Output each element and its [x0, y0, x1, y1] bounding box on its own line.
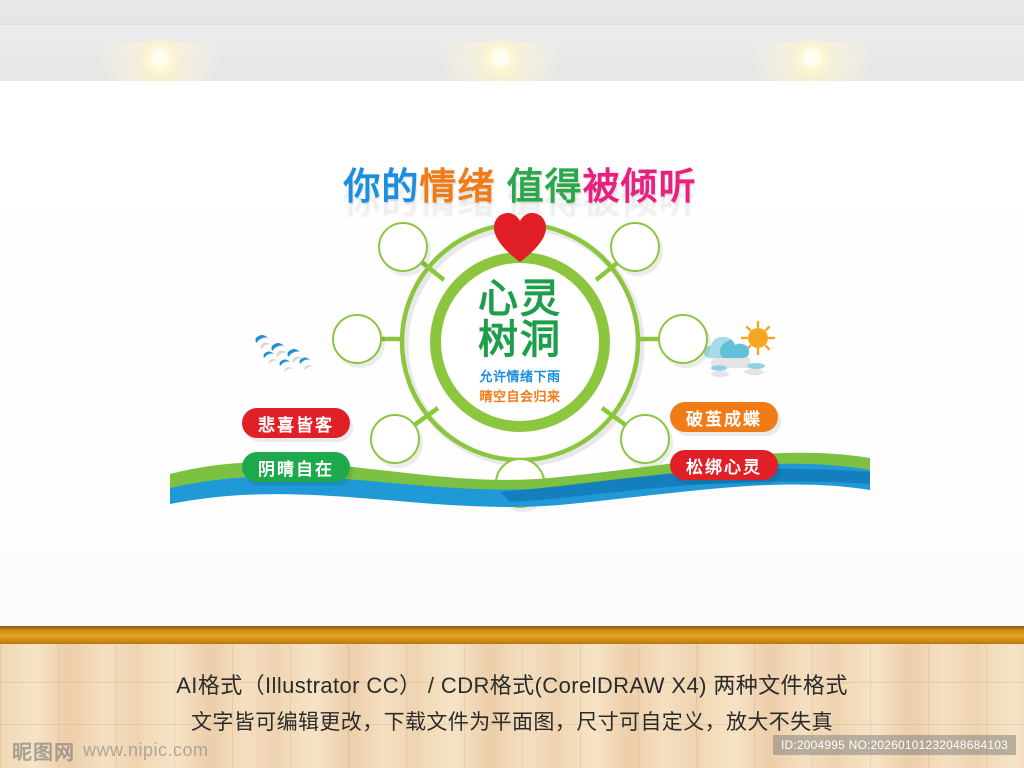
pill-pojianchengdie[interactable]: 破茧成蝶: [670, 402, 778, 432]
watermark-url: www.nipic.com: [83, 740, 209, 761]
ceiling-upper: [0, 0, 1024, 24]
core-subtitle-1: 允许情绪下雨: [479, 366, 560, 385]
caption-line-2: 文字皆可编辑更改，下载文件为平面图，尺寸可自定义，放大不失真: [0, 706, 1024, 736]
pill-beixijieke[interactable]: 悲喜皆客: [242, 408, 350, 438]
caption-line-1: AI格式（Illustrator CC） / CDR格式(CorelDRAW X…: [0, 668, 1024, 700]
watermark-brand: 昵图网: [12, 736, 75, 765]
footer-caption: AI格式（Illustrator CC） / CDR格式(CorelDRAW X…: [0, 668, 1024, 736]
page-title: 你的情绪 值得被倾听: [180, 156, 860, 210]
core-title-line2: 树洞: [478, 320, 562, 361]
node-circle-2[interactable]: [610, 222, 660, 272]
floor-baseboard: [0, 626, 1024, 644]
node-circle-1[interactable]: [378, 222, 428, 272]
title-seg-3: 值得: [507, 166, 583, 207]
flying-birds-icon: [252, 332, 326, 376]
pill-songbangxinling[interactable]: 松绑心灵: [670, 450, 778, 480]
title-seg-2: 情绪: [419, 166, 495, 207]
wall-mural-scene: 你的情绪 值得被倾听 你的情绪 值得被倾听: [0, 0, 1024, 768]
mural-artwork: 你的情绪 值得被倾听 你的情绪 值得被倾听: [180, 140, 860, 530]
heart-icon: [492, 212, 548, 264]
spotlight-left: [151, 49, 169, 67]
asset-id-badge: ID:2004995 NO:20260101232048684103: [773, 735, 1016, 755]
core-circle: 心灵 树洞 允许情绪下雨 晴空自会归来: [430, 252, 610, 432]
spotlight-center: [491, 49, 509, 67]
pill-yinqingzizai[interactable]: 阴晴自在: [242, 452, 350, 482]
node-circle-4[interactable]: [658, 314, 708, 364]
sun-behind-cloud-icon: [696, 320, 788, 384]
title-space: [495, 166, 506, 207]
core-title-line1: 心灵: [478, 279, 562, 320]
title-seg-4: 被倾听: [583, 166, 697, 207]
core-subtitle-2: 晴空自会归来: [479, 386, 560, 405]
watermark: 昵图网 www.nipic.com: [12, 736, 209, 765]
spotlight-right: [803, 49, 821, 67]
node-circle-3[interactable]: [332, 314, 382, 364]
title-seg-1: 你的: [343, 166, 419, 207]
